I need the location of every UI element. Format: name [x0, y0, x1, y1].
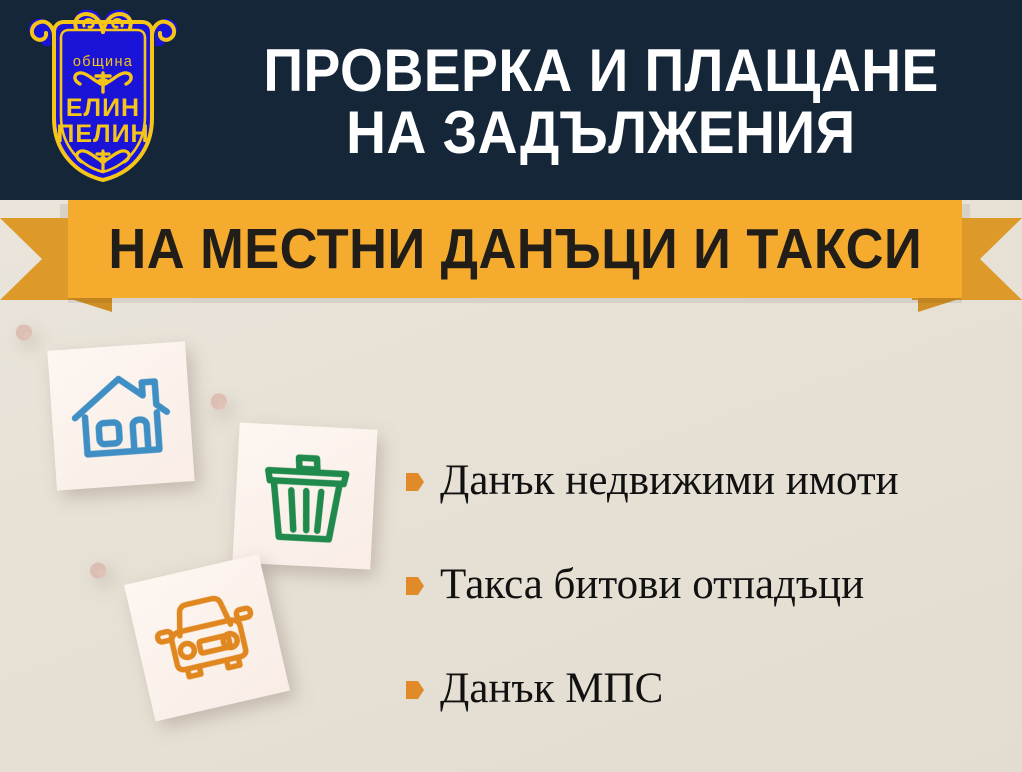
poster-root: община ЕЛИН ПЕЛИН [0, 0, 1022, 772]
list-item-label: Такса битови отпадъци [440, 563, 864, 606]
ribbon-fold-right [918, 298, 962, 312]
arrow-bullet-icon [404, 575, 424, 597]
ribbon-text: НА МЕСТНИ ДАНЪЦИ И ТАКСИ [108, 216, 922, 282]
crest-label-line1: ЕЛИН [66, 94, 140, 122]
house-icon [47, 341, 194, 490]
list-item-label: Данък МПС [440, 667, 663, 710]
arrow-bullet-icon [404, 471, 424, 493]
ribbon-banner: НА МЕСТНИ ДАНЪЦИ И ТАКСИ [68, 200, 962, 298]
list-item[interactable]: Данък МПС [404, 636, 1004, 740]
arrow-bullet-icon [404, 679, 424, 701]
list-item[interactable]: Такса битови отпадъци [404, 532, 1004, 636]
header-bar: община ЕЛИН ПЕЛИН [0, 0, 1022, 200]
tax-type-list: Данък недвижими имоти Такса битови отпад… [404, 428, 1004, 740]
crest-label-top: община [73, 54, 133, 70]
ribbon-fold-left [68, 298, 112, 312]
subtitle-ribbon: НА МЕСТНИ ДАНЪЦИ И ТАКСИ [0, 196, 1022, 308]
page-title: ПРОВЕРКА И ПЛАЩАНЕ НА ЗАДЪЛЖЕНИЯ [190, 14, 1012, 190]
list-item-label: Данък недвижими имоти [440, 459, 899, 502]
page-title-line1: ПРОВЕРКА И ПЛАЩАНЕ [263, 40, 938, 102]
crest-label-line2: ПЕЛИН [56, 120, 149, 148]
stamp-card-property-tax [15, 311, 224, 520]
page-title-line2: НА ЗАДЪЛЖЕНИЯ [346, 102, 856, 164]
list-item[interactable]: Данък недвижими имоти [404, 428, 1004, 532]
municipality-crest-logo: община ЕЛИН ПЕЛИН [24, 6, 182, 192]
